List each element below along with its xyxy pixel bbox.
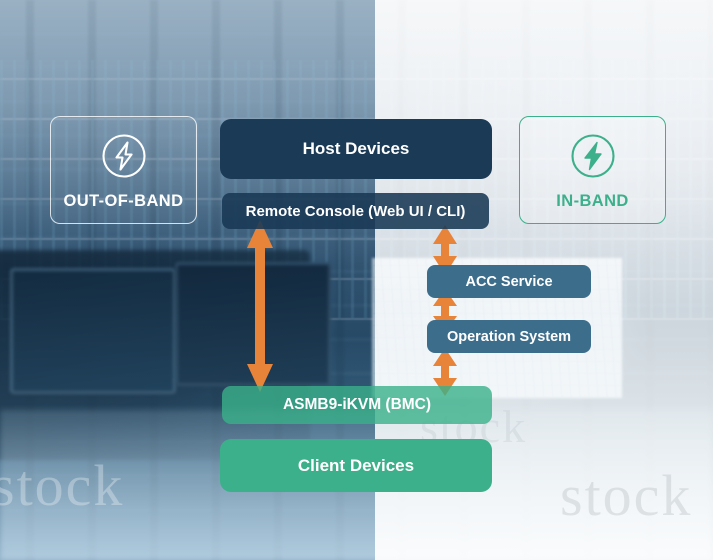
box-label: Client Devices — [298, 456, 414, 476]
box-client-devices[interactable]: Client Devices — [220, 439, 492, 492]
box-label: ACC Service — [465, 274, 552, 290]
box-operation-system[interactable]: Operation System — [427, 320, 591, 353]
mode-label-out-of-band: OUT-OF-BAND — [64, 192, 184, 211]
diagram-canvas: stock stock stock OUT-OF-BAND IN-BAND — [0, 0, 713, 560]
box-label: Operation System — [447, 329, 571, 345]
box-asmb9-ikvm-bmc[interactable]: ASMB9-iKVM (BMC) — [222, 386, 492, 424]
lightning-bolt-icon — [567, 130, 619, 182]
connector-remote-console-to-bmc — [240, 218, 280, 394]
box-acc-service[interactable]: ACC Service — [427, 265, 591, 298]
lightning-bolt-icon — [98, 130, 150, 182]
box-label: Host Devices — [303, 139, 410, 159]
mode-label-in-band: IN-BAND — [556, 192, 628, 211]
box-label: Remote Console (Web UI / CLI) — [246, 203, 466, 220]
box-host-devices[interactable]: Host Devices — [220, 119, 492, 179]
box-remote-console[interactable]: Remote Console (Web UI / CLI) — [222, 193, 489, 229]
box-label: ASMB9-iKVM (BMC) — [283, 396, 431, 414]
mode-card-out-of-band[interactable]: OUT-OF-BAND — [50, 116, 197, 224]
mode-card-in-band[interactable]: IN-BAND — [519, 116, 666, 224]
